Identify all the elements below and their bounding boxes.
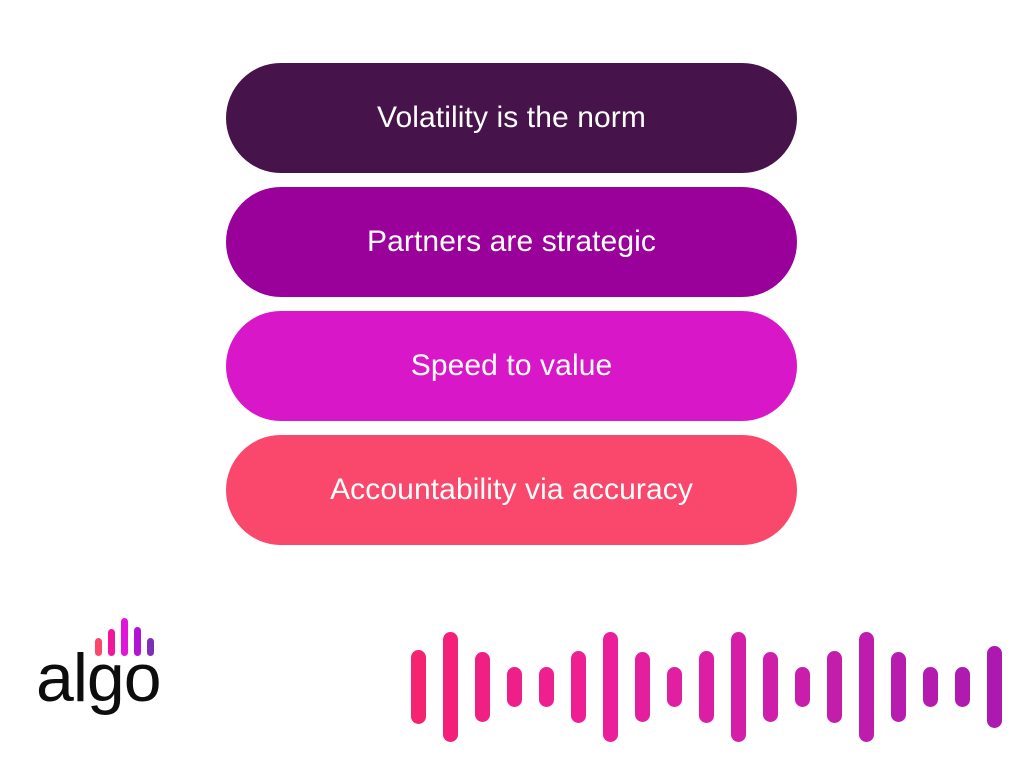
pill-partners[interactable]: Partners are strategic — [226, 187, 797, 297]
wave-bar-2 — [443, 632, 458, 742]
wave-bar-16 — [891, 652, 906, 722]
pill-volatility[interactable]: Volatility is the norm — [226, 63, 797, 173]
wave-bar-13 — [795, 667, 810, 707]
wave-bar-14 — [827, 651, 842, 723]
pill-label-partners: Partners are strategic — [367, 227, 656, 257]
wave-bar-1 — [411, 650, 426, 724]
wave-bar-6 — [571, 651, 586, 723]
wave-bar-10 — [699, 651, 714, 723]
pill-label-speed: Speed to value — [411, 351, 613, 381]
wave-bar-5 — [539, 667, 554, 707]
pill-label-volatility: Volatility is the norm — [377, 103, 646, 133]
pill-stack: Volatility is the norm Partners are stra… — [226, 63, 797, 559]
wave-bar-17 — [923, 667, 938, 707]
logo-wordmark: algo — [36, 644, 161, 712]
slide-canvas: Volatility is the norm Partners are stra… — [0, 0, 1024, 768]
wave-bar-8 — [635, 652, 650, 722]
pill-accountability[interactable]: Accountability via accuracy — [226, 435, 797, 545]
algo-logo: algo — [36, 616, 186, 720]
pill-speed[interactable]: Speed to value — [226, 311, 797, 421]
pill-label-accountability: Accountability via accuracy — [330, 475, 693, 505]
wave-bar-11 — [731, 632, 746, 742]
wave-bar-4 — [507, 667, 522, 707]
wave-bar-12 — [763, 652, 778, 722]
decorative-waveform — [411, 628, 1015, 746]
wave-bar-18 — [955, 667, 970, 707]
wave-bar-3 — [475, 652, 490, 722]
wave-bar-19 — [987, 646, 1002, 728]
wave-bar-9 — [667, 667, 682, 707]
wave-bar-15 — [859, 632, 874, 742]
wave-bar-7 — [603, 632, 618, 742]
